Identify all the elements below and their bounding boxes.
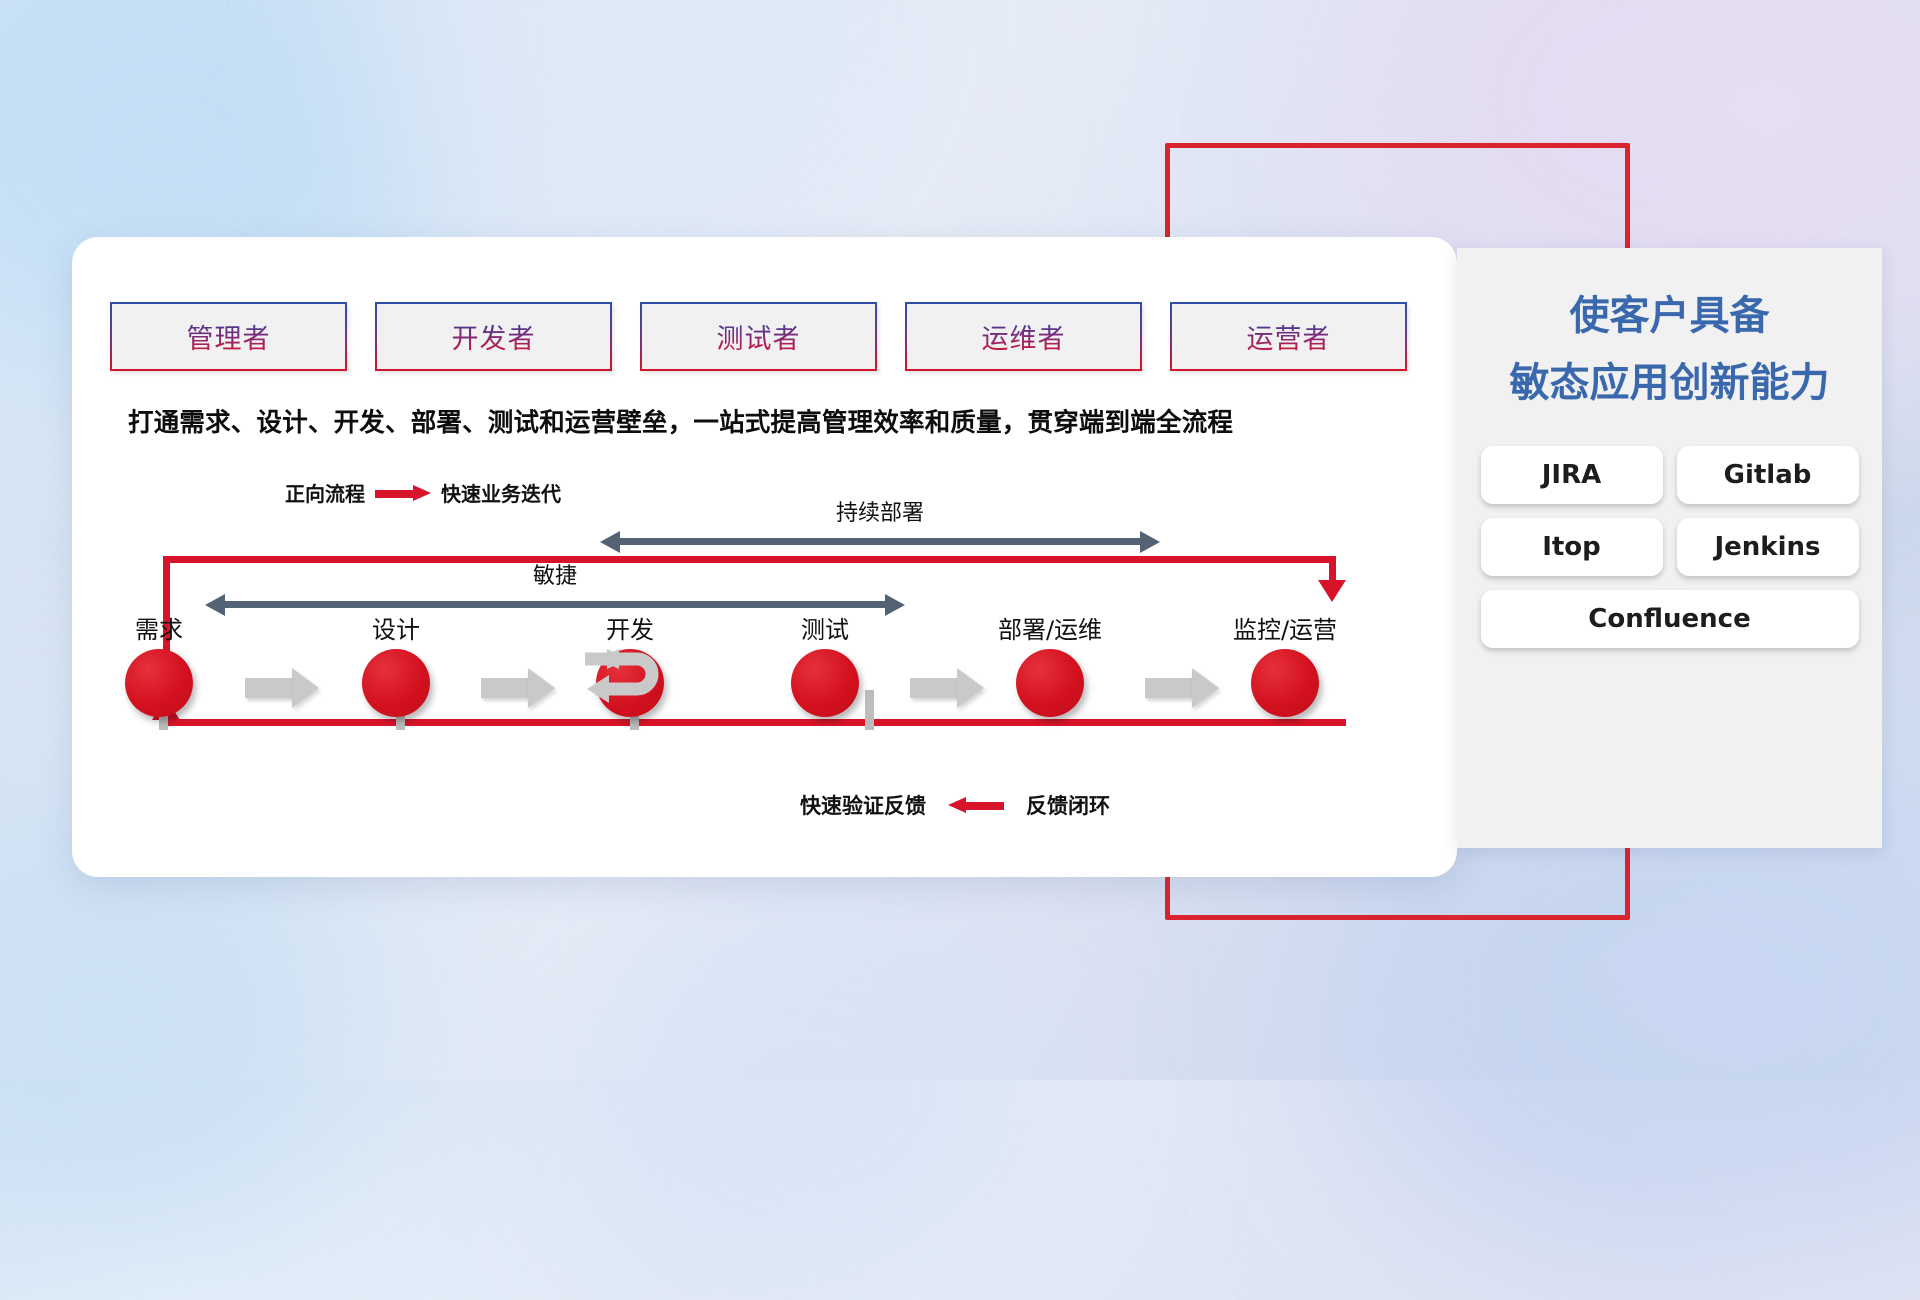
role-label: 测试者 [717,317,801,356]
stage-label: 部署/运维 [985,610,1115,645]
side-panel-title: 使客户具备 敏态应用创新能力 [1457,288,1882,412]
band-agile: 敏捷 [205,558,905,616]
role-box-operations[interactable]: 运营者 [1170,302,1407,371]
stage-label: 监控/运营 [1220,610,1350,645]
pipeline: 需求 设计 开发 测试 部署/运维 监控/运营 [110,610,1400,730]
side-panel-title-line1: 使客户具备 [1457,288,1882,345]
pipeline-stage-design[interactable]: 设计 [331,610,461,717]
legend-feedback-left-label: 快速验证反馈 [800,790,926,820]
role-label: 开发者 [452,317,536,356]
role-label: 管理者 [187,317,271,356]
double-arrow-icon [600,531,1160,553]
tool-item-confluence[interactable]: Confluence [1481,590,1859,648]
stage-label: 开发 [565,610,695,645]
background-blob [380,0,900,260]
tool-item-itop[interactable]: Itop [1481,518,1663,576]
pipeline-stage-deploy-ops[interactable]: 部署/运维 [985,610,1115,717]
arrow-right-red-icon [375,485,431,501]
stage-dot [1251,649,1319,717]
flow-arrow-icon [1145,668,1219,708]
arrow-left-red-icon [948,797,1004,813]
legend-forward-left-label: 正向流程 [285,478,365,507]
tool-item-jira[interactable]: JIRA [1481,446,1663,504]
flow-arrow-icon [481,668,555,708]
role-label: 运营者 [1247,317,1331,356]
legend-feedback-loop: 快速验证反馈 反馈闭环 [800,790,1110,820]
loop-back-icon [585,645,681,709]
role-box-manager[interactable]: 管理者 [110,302,347,371]
stage-label: 测试 [760,610,890,645]
stage-dot [791,649,859,717]
side-panel-title-line2: 敏态应用创新能力 [1457,355,1882,412]
band-continuous-deployment: 持续部署 [600,495,1160,553]
flow-arrow-icon [910,668,984,708]
stage-dot [362,649,430,717]
legend-feedback-right-label: 反馈闭环 [1026,790,1110,820]
pipeline-stage-requirements[interactable]: 需求 [94,610,224,717]
tool-item-gitlab[interactable]: Gitlab [1677,446,1859,504]
stage-label: 设计 [331,610,461,645]
tool-item-jenkins[interactable]: Jenkins [1677,518,1859,576]
role-box-tester[interactable]: 测试者 [640,302,877,371]
pipeline-stage-testing[interactable]: 测试 [760,610,890,717]
stage-dot [1016,649,1084,717]
background-blob [560,880,1060,1300]
tool-list: JIRA Gitlab Itop Jenkins Confluence [1457,446,1882,648]
band-label-continuous-deployment: 持续部署 [600,495,1160,527]
flow-arrow-icon [245,668,319,708]
band-label-agile: 敏捷 [205,558,905,590]
pipeline-stage-monitor-operations[interactable]: 监控/运营 [1220,610,1350,717]
role-box-row: 管理者 开发者 测试者 运维者 运营者 [110,302,1407,371]
loop-arrow-down-icon [1318,580,1346,602]
stage-dot [125,649,193,717]
role-label: 运维者 [982,317,1066,356]
stage-label: 需求 [94,610,224,645]
legend-forward-flow: 正向流程 快速业务迭代 [285,478,561,507]
role-box-ops[interactable]: 运维者 [905,302,1142,371]
role-box-developer[interactable]: 开发者 [375,302,612,371]
description-text: 打通需求、设计、开发、部署、测试和运营壁垒，一站式提高管理效率和质量，贯穿端到端… [128,402,1418,439]
legend-forward-right-label: 快速业务迭代 [441,478,561,507]
side-panel: 使客户具备 敏态应用创新能力 JIRA Gitlab Itop Jenkins … [1457,248,1882,848]
